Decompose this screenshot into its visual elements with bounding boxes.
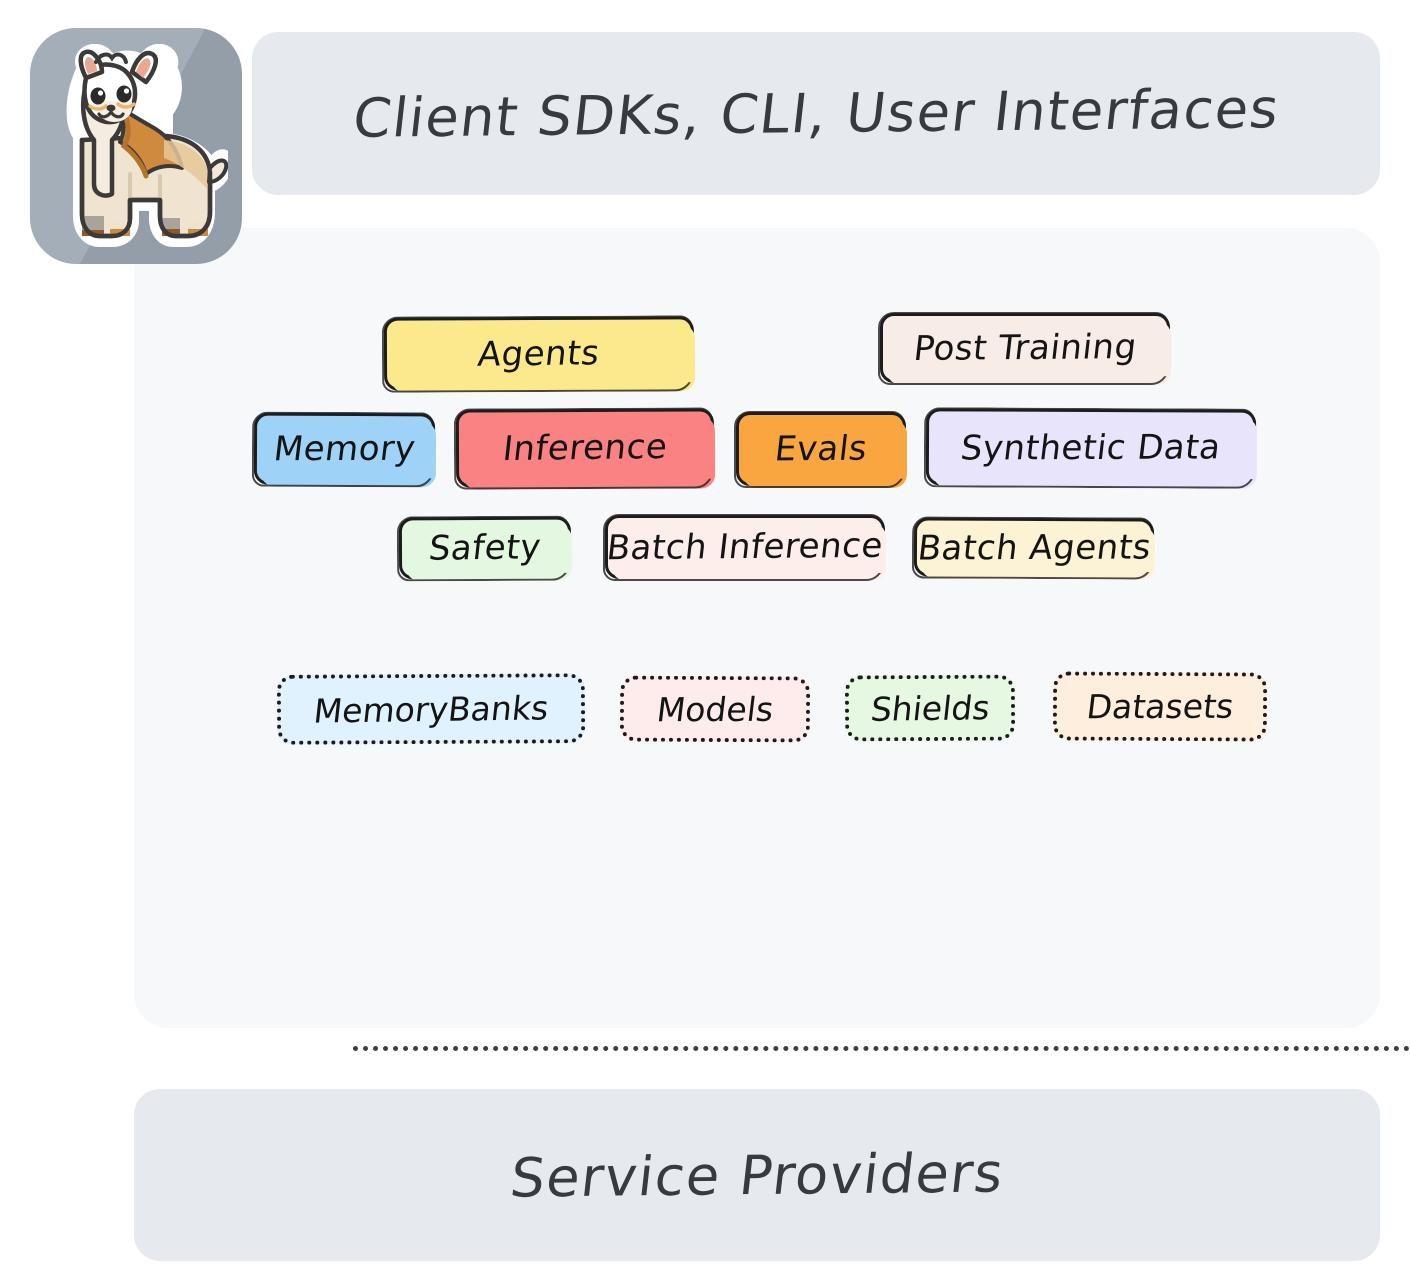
api-box-label: Synthetic Data — [959, 427, 1224, 468]
api-box-label: Memory — [271, 429, 417, 470]
api-box-memory[interactable]: Memory — [254, 413, 435, 486]
api-box-label: Safety — [427, 527, 543, 568]
section-divider — [353, 1046, 1410, 1051]
api-box-label: Batch Agents — [915, 527, 1153, 568]
api-box-label: Batch Inference — [605, 526, 886, 568]
api-box-safety[interactable]: Safety — [399, 517, 571, 580]
footer-bar: Service Providers — [134, 1089, 1380, 1261]
api-box-batch-inference[interactable]: Batch Inference — [605, 515, 885, 579]
api-box-inference[interactable]: Inference — [456, 408, 714, 487]
resource-box-label: MemoryBanks — [312, 688, 551, 730]
api-box-batch-agents[interactable]: Batch Agents — [914, 517, 1154, 577]
resource-box-label: Datasets — [1084, 687, 1235, 726]
resource-box-label: Shields — [868, 688, 991, 729]
llama-logo-tile — [30, 28, 242, 264]
api-box-synthetic-data[interactable]: Synthetic Data — [926, 408, 1256, 486]
resource-box-datasets[interactable]: Datasets — [1053, 671, 1267, 741]
footer-title: Service Providers — [507, 1141, 1007, 1209]
header-bar: Client SDKs, CLI, User Interfaces — [252, 32, 1380, 195]
api-box-label: Post Training — [911, 327, 1138, 369]
resource-box-memorybanks[interactable]: MemoryBanks — [277, 673, 585, 745]
header-title: Client SDKs, CLI, User Interfaces — [349, 77, 1282, 150]
resource-box-label: Models — [654, 689, 775, 728]
api-box-label: Evals — [773, 429, 870, 470]
api-box-label: Inference — [501, 427, 670, 469]
api-surface-panel: AgentsPost TrainingMemoryInferenceEvalsS… — [134, 228, 1380, 1028]
api-box-evals[interactable]: Evals — [736, 412, 906, 486]
api-box-agents[interactable]: Agents — [384, 316, 694, 390]
resource-box-models[interactable]: Models — [620, 676, 810, 743]
api-box-post-training[interactable]: Post Training — [880, 313, 1170, 383]
resource-box-shields[interactable]: Shields — [845, 675, 1015, 742]
api-box-label: Agents — [476, 333, 602, 375]
llama-icon — [46, 44, 228, 248]
